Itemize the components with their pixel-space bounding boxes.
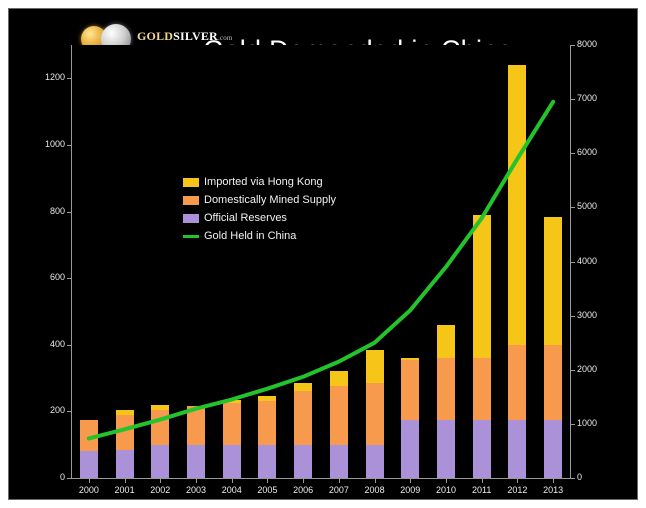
x-tick-label-2003: 2003 xyxy=(176,485,216,495)
x-tick xyxy=(125,479,126,483)
y-tick-right xyxy=(571,262,575,263)
gold-held-line-series xyxy=(71,45,571,479)
x-tick-label-2008: 2008 xyxy=(355,485,395,495)
legend-label: Domestically Mined Supply xyxy=(204,194,336,206)
y-tick-label-left: 1000 xyxy=(25,139,65,149)
y-tick-label-left: 600 xyxy=(25,272,65,282)
x-tick-label-2000: 2000 xyxy=(69,485,109,495)
chart-legend: Imported via Hong KongDomestically Mined… xyxy=(183,173,336,245)
y-tick-label-right: 4000 xyxy=(577,256,617,266)
legend-label: Gold Held in China xyxy=(204,230,296,242)
y-tick-label-right: 8000 xyxy=(577,39,617,49)
legend-swatch-icon xyxy=(183,235,199,238)
y-tick-label-right: 3000 xyxy=(577,310,617,320)
x-tick-label-2007: 2007 xyxy=(319,485,359,495)
y-tick-right xyxy=(571,45,575,46)
x-tick xyxy=(482,479,483,483)
y-tick-right xyxy=(571,478,575,479)
y-tick-label-right: 5000 xyxy=(577,201,617,211)
legend-swatch-icon xyxy=(183,214,199,223)
y-tick-label-right: 1000 xyxy=(577,418,617,428)
legend-item-3[interactable]: Gold Held in China xyxy=(183,227,336,245)
legend-item-2[interactable]: Official Reserves xyxy=(183,209,336,227)
x-tick-label-2010: 2010 xyxy=(426,485,466,495)
x-tick xyxy=(446,479,447,483)
x-tick-label-2009: 2009 xyxy=(390,485,430,495)
legend-item-1[interactable]: Domestically Mined Supply xyxy=(183,191,336,209)
x-tick-label-2012: 2012 xyxy=(497,485,537,495)
plot-area: 020040060080010001200 010002000300040005… xyxy=(71,45,571,479)
y-tick-label-right: 7000 xyxy=(577,93,617,103)
chart-container: GOLDSILVER.com Gold Demanded in China Ch… xyxy=(8,8,638,500)
legend-swatch-icon xyxy=(183,178,199,187)
y-tick-label-right: 0 xyxy=(577,472,617,482)
y-tick-right xyxy=(571,370,575,371)
y-tick-label-left: 200 xyxy=(25,405,65,415)
x-tick-label-2001: 2001 xyxy=(105,485,145,495)
x-tick xyxy=(339,479,340,483)
legend-swatch-icon xyxy=(183,196,199,205)
y-tick-label-left: 0 xyxy=(25,472,65,482)
y-tick-right xyxy=(571,207,575,208)
x-tick-label-2006: 2006 xyxy=(283,485,323,495)
x-tick-label-2004: 2004 xyxy=(212,485,252,495)
x-tick xyxy=(553,479,554,483)
y-tick-right xyxy=(571,316,575,317)
x-tick xyxy=(517,479,518,483)
x-tick-label-2005: 2005 xyxy=(247,485,287,495)
x-tick-label-2013: 2013 xyxy=(533,485,573,495)
x-tick xyxy=(160,479,161,483)
legend-item-0[interactable]: Imported via Hong Kong xyxy=(183,173,336,191)
x-tick xyxy=(267,479,268,483)
x-tick xyxy=(232,479,233,483)
y-tick-label-right: 6000 xyxy=(577,147,617,157)
y-tick-right xyxy=(571,424,575,425)
x-tick-label-2002: 2002 xyxy=(140,485,180,495)
x-tick xyxy=(196,479,197,483)
y-tick-right xyxy=(571,153,575,154)
x-tick xyxy=(410,479,411,483)
legend-label: Imported via Hong Kong xyxy=(204,176,323,188)
x-tick xyxy=(375,479,376,483)
x-tick xyxy=(89,479,90,483)
y-tick-label-left: 1200 xyxy=(25,72,65,82)
legend-label: Official Reserves xyxy=(204,212,287,224)
x-tick-label-2011: 2011 xyxy=(462,485,502,495)
y-tick-label-right: 2000 xyxy=(577,364,617,374)
y-tick-right xyxy=(571,99,575,100)
y-tick-label-left: 800 xyxy=(25,206,65,216)
y-tick-label-left: 400 xyxy=(25,339,65,349)
x-tick xyxy=(303,479,304,483)
